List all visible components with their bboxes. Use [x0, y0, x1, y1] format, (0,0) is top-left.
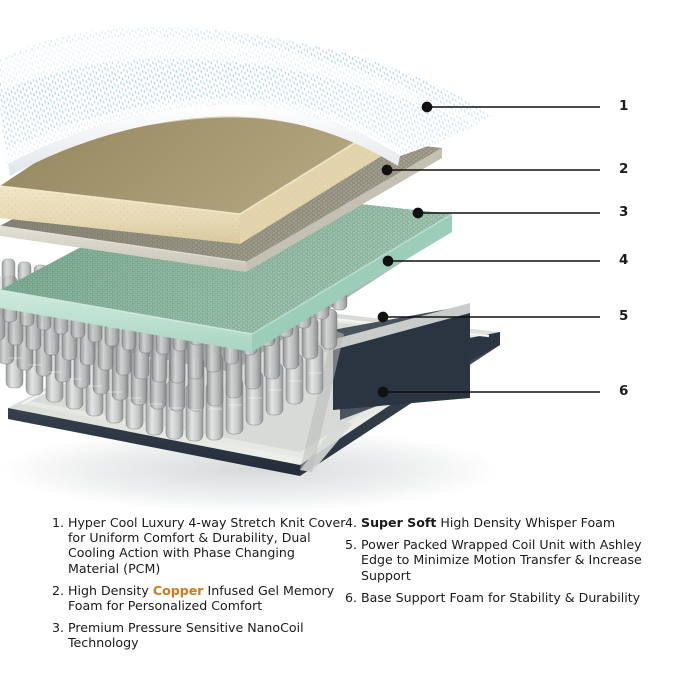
copper-highlight: Copper [153, 583, 204, 598]
legend-item-2: 2. High Density Copper Infused Gel Memor… [52, 583, 348, 613]
legend-text-1: Hyper Cool Luxury 4-way Stretch Knit Cov… [68, 515, 348, 576]
legend-text-3: Premium Pressure Sensitive NanoCoil Tech… [68, 620, 348, 650]
legend: 1. Hyper Cool Luxury 4-way Stretch Knit … [0, 515, 700, 700]
legend-text-4: Super Soft High Density Whisper Foam [361, 515, 645, 530]
callout-number-5: 5 [619, 310, 628, 324]
legend-number-2: 2. [52, 583, 68, 613]
callout-number-3: 3 [619, 206, 628, 220]
legend-column-right: 4. Super Soft High Density Whisper Foam … [345, 515, 645, 612]
callout-number-4: 4 [619, 254, 628, 268]
legend-item-3: 3. Premium Pressure Sensitive NanoCoil T… [52, 620, 348, 650]
mattress-layers-infographic: 1 2 3 4 5 6 1. Hyper Cool Luxury 4-way S… [0, 0, 700, 700]
legend-number-3: 3. [52, 620, 68, 650]
legend-item-6: 6. Base Support Foam for Stability & Dur… [345, 590, 645, 605]
callout-number-6: 6 [619, 385, 628, 399]
legend-number-4: 4. [345, 515, 361, 530]
legend-text-2: High Density Copper Infused Gel Memory F… [68, 583, 348, 613]
legend-item-4: 4. Super Soft High Density Whisper Foam [345, 515, 645, 530]
legend-number-1: 1. [52, 515, 68, 576]
leader-line-4 [383, 256, 600, 265]
legend-number-5: 5. [345, 537, 361, 583]
legend-column-left: 1. Hyper Cool Luxury 4-way Stretch Knit … [52, 515, 348, 658]
callout-number-1: 1 [619, 100, 628, 114]
legend-item-1: 1. Hyper Cool Luxury 4-way Stretch Knit … [52, 515, 348, 576]
callout-number-2: 2 [619, 163, 628, 177]
legend-text-6: Base Support Foam for Stability & Durabi… [361, 590, 645, 605]
legend-text-5: Power Packed Wrapped Coil Unit with Ashl… [361, 537, 645, 583]
mattress-cutaway-illustration: 1 2 3 4 5 6 [0, 0, 700, 515]
legend-number-6: 6. [345, 590, 361, 605]
legend-item-5: 5. Power Packed Wrapped Coil Unit with A… [345, 537, 645, 583]
